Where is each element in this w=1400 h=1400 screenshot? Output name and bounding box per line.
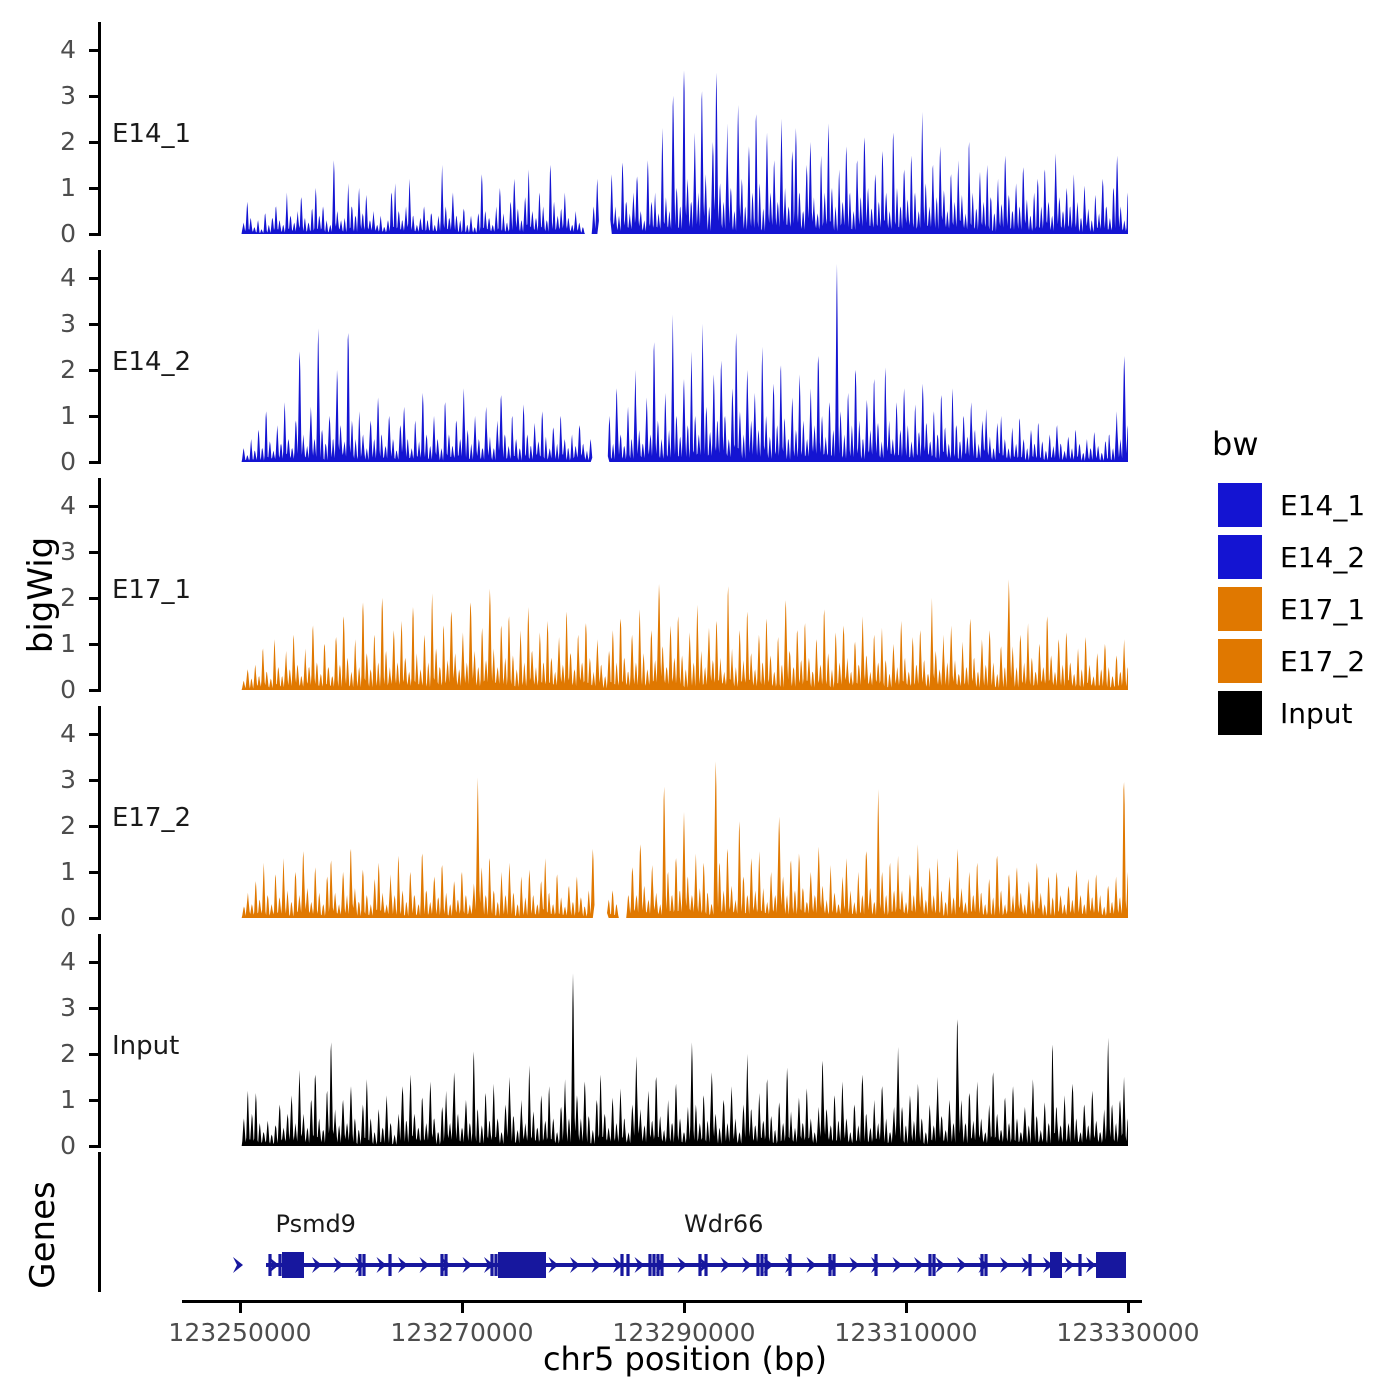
- y-axis-tick: [89, 597, 98, 600]
- y-axis-tick: [89, 369, 98, 372]
- track-plot-e14_1: [240, 22, 1128, 240]
- gene-model: [230, 1245, 1128, 1285]
- y-axis-tick: [89, 825, 98, 828]
- x-axis-tick: [683, 1303, 686, 1313]
- x-axis-tick: [461, 1303, 464, 1313]
- genes-axis-title: Genes: [23, 1170, 63, 1300]
- x-axis-tick: [905, 1303, 908, 1313]
- y-axis-tick-label: 4: [18, 265, 76, 290]
- y-axis-tick: [89, 233, 98, 236]
- y-axis-tick-label: 2: [18, 813, 76, 838]
- gene-model-track: [230, 1245, 1128, 1285]
- y-axis-tick: [89, 779, 98, 782]
- y-axis-tick-label: 2: [18, 1041, 76, 1066]
- genes-axis-line: [98, 1152, 101, 1292]
- legend-item-label: E14_1: [1280, 489, 1365, 522]
- y-axis-tick-label: 0: [18, 1133, 76, 1158]
- signal-area: [240, 973, 1128, 1146]
- track-plot-input: [240, 934, 1128, 1152]
- signal-area: [607, 761, 1128, 918]
- signal-track-e17_1: [240, 478, 1128, 696]
- legend-color-swatch: [1218, 639, 1262, 683]
- signal-area: [240, 328, 592, 462]
- legend-item-label: Input: [1280, 697, 1353, 730]
- x-axis-tick: [1127, 1303, 1130, 1313]
- y-axis-tick-label: 0: [18, 677, 76, 702]
- y-axis-tick: [89, 917, 98, 920]
- y-axis-tick-label: 0: [18, 221, 76, 246]
- legend-item-label: E14_2: [1280, 541, 1365, 574]
- y-axis-tick-label: 0: [18, 905, 76, 930]
- y-axis-tick-label: 3: [18, 539, 76, 564]
- x-axis-title: chr5 position (bp): [240, 1340, 1130, 1378]
- y-axis-tick: [89, 187, 98, 190]
- y-axis-tick: [89, 1007, 98, 1010]
- legend-title: bw: [1212, 425, 1258, 463]
- legend-color-swatch: [1218, 483, 1262, 527]
- y-axis-tick: [89, 277, 98, 280]
- y-axis-tick-label: 3: [18, 767, 76, 792]
- legend-item-e17_1[interactable]: E17_1: [1218, 587, 1388, 633]
- signal-area: [240, 160, 599, 234]
- y-axis-line: [98, 706, 101, 920]
- y-axis-tick-label: 1: [18, 631, 76, 656]
- y-axis-tick: [89, 461, 98, 464]
- y-axis-tick-label: 2: [18, 129, 76, 154]
- y-axis-tick: [89, 689, 98, 692]
- y-axis-tick: [89, 1053, 98, 1056]
- legend-color-swatch: [1218, 691, 1262, 735]
- legend-color-swatch: [1218, 587, 1262, 631]
- signal-area: [610, 70, 1128, 234]
- legend-item-label: E17_2: [1280, 645, 1365, 678]
- signal-track-e17_2: [240, 706, 1128, 924]
- track-label-e17_1: E17_1: [112, 575, 191, 605]
- signal-area: [240, 579, 1128, 690]
- x-axis-tick: [239, 1303, 242, 1313]
- y-axis-tick: [89, 415, 98, 418]
- y-axis-tick-label: 3: [18, 311, 76, 336]
- legend: bw E14_1E14_2E17_1E17_2Input: [1208, 425, 1398, 725]
- y-axis-tick-label: 1: [18, 859, 76, 884]
- y-axis-tick: [89, 141, 98, 144]
- y-axis-tick-label: 4: [18, 493, 76, 518]
- y-axis-tick: [89, 871, 98, 874]
- legend-item-e14_2[interactable]: E14_2: [1218, 535, 1388, 581]
- y-axis-tick-label: 0: [18, 449, 76, 474]
- y-axis-tick: [89, 733, 98, 736]
- y-axis-tick-label: 4: [18, 721, 76, 746]
- track-label-e17_2: E17_2: [112, 803, 191, 833]
- track-label-input: Input: [112, 1031, 179, 1061]
- y-axis-tick-label: 2: [18, 585, 76, 610]
- gene-label-psmd9: Psmd9: [276, 1210, 356, 1238]
- y-axis-tick-label: 1: [18, 403, 76, 428]
- y-axis-tick: [89, 961, 98, 964]
- legend-color-swatch: [1218, 535, 1262, 579]
- track-label-e14_2: E14_2: [112, 347, 191, 377]
- y-axis-tick: [89, 1099, 98, 1102]
- y-axis-tick: [89, 1145, 98, 1148]
- legend-item-e17_2[interactable]: E17_2: [1218, 639, 1388, 685]
- y-axis-tick: [89, 551, 98, 554]
- legend-item-label: E17_1: [1280, 593, 1365, 626]
- signal-track-e14_2: [240, 250, 1128, 468]
- y-axis-tick-label: 3: [18, 83, 76, 108]
- signal-area: [240, 777, 594, 918]
- y-axis-tick-label: 3: [18, 995, 76, 1020]
- track-plot-e14_2: [240, 250, 1128, 468]
- y-axis-tick: [89, 323, 98, 326]
- y-axis-tick: [89, 643, 98, 646]
- y-axis-tick-label: 1: [18, 175, 76, 200]
- track-plot-e17_1: [240, 478, 1128, 696]
- gene-label-wdr66: Wdr66: [684, 1210, 763, 1238]
- y-axis-tick-label: 4: [18, 37, 76, 62]
- y-axis-line: [98, 22, 101, 236]
- track-plot-e17_2: [240, 706, 1128, 924]
- y-axis-tick: [89, 49, 98, 52]
- signal-track-e14_1: [240, 22, 1128, 240]
- track-label-e14_1: E14_1: [112, 119, 191, 149]
- signal-area: [608, 264, 1128, 462]
- figure-root: bigWig Genes 01234E14_101234E14_201234E1…: [0, 0, 1400, 1400]
- legend-item-input[interactable]: Input: [1218, 691, 1388, 737]
- y-axis-line: [98, 934, 101, 1148]
- y-axis-line: [98, 250, 101, 464]
- y-axis-line: [98, 478, 101, 692]
- y-axis-tick: [89, 505, 98, 508]
- legend-item-e14_1[interactable]: E14_1: [1218, 483, 1388, 529]
- y-axis-tick-label: 2: [18, 357, 76, 382]
- y-axis-tick-label: 1: [18, 1087, 76, 1112]
- y-axis-tick-label: 4: [18, 949, 76, 974]
- y-axis-tick: [89, 95, 98, 98]
- signal-track-input: [240, 934, 1128, 1152]
- x-axis-line: [182, 1300, 1142, 1303]
